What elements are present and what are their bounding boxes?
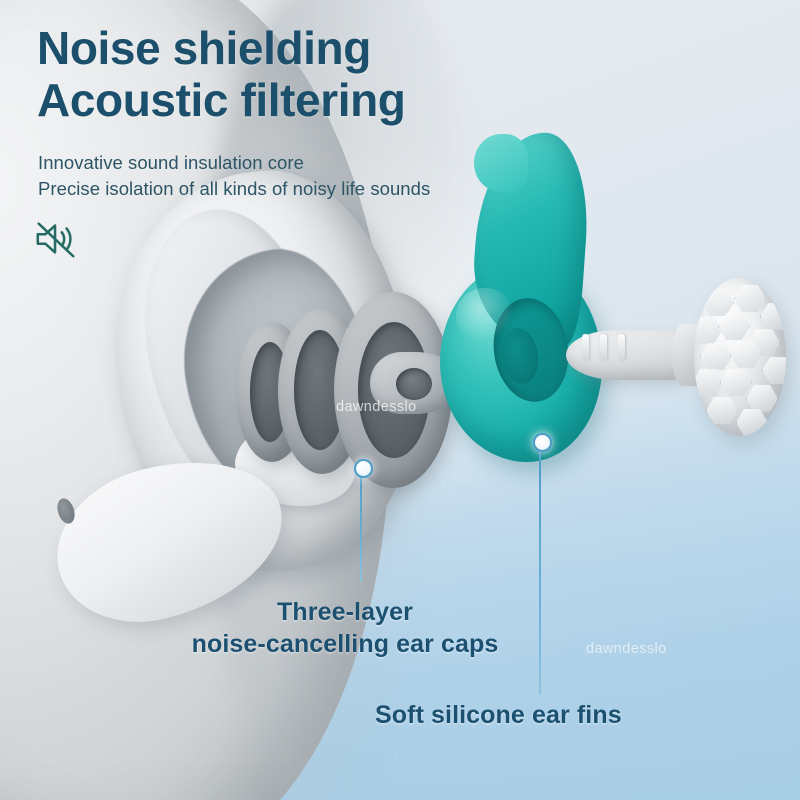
callout-label-ear-caps: Three-layer noise-cancelling ear caps (155, 596, 535, 660)
poster-headline: Noise shielding Acoustic filtering (37, 22, 406, 127)
callout-label-ear-fins: Soft silicone ear fins (375, 701, 622, 730)
noise-filter-rib (618, 334, 625, 360)
noise-filter-rib (600, 334, 607, 360)
honeycomb-facet (702, 288, 734, 317)
headline-line-1: Noise shielding (37, 22, 406, 74)
headline-line-2: Acoustic filtering (37, 74, 406, 126)
noise-filter-head (694, 278, 786, 436)
honeycomb-facet (762, 356, 786, 385)
honeycomb-facet (706, 396, 738, 425)
honeycomb-facet (700, 342, 732, 371)
callout-label-ear-caps-line-1: Three-layer (155, 596, 535, 628)
honeycomb-facet (746, 384, 778, 413)
poster-subheadline: Innovative sound insulation core Precise… (38, 150, 430, 203)
honeycomb-facet (720, 368, 752, 397)
honeycomb-facet (734, 284, 766, 313)
callout-dot-ear-fins (533, 433, 552, 452)
honeycomb-facet (694, 316, 722, 345)
product-infographic-poster: Noise shielding Acoustic filtering Innov… (0, 0, 800, 800)
callout-dot-ear-caps (354, 459, 373, 478)
ear-fin-hook-tip (474, 134, 528, 192)
honeycomb-facet (718, 312, 750, 341)
subheadline-line-1: Innovative sound insulation core (38, 150, 430, 176)
subheadline-line-2: Precise isolation of all kinds of noisy … (38, 176, 430, 202)
ear-fin-highlight (456, 288, 514, 342)
watermark: dawndesslo (586, 641, 667, 657)
callout-line-ear-fins (539, 445, 541, 695)
honeycomb-facet (760, 302, 786, 331)
callout-label-ear-caps-line-2: noise-cancelling ear caps (155, 628, 535, 660)
noise-filter-part (566, 278, 786, 453)
noise-filter-rib (582, 334, 589, 360)
ear-cap-core-bore (396, 368, 432, 400)
mute-speaker-icon (33, 216, 79, 262)
honeycomb-facet (694, 368, 724, 397)
honeycomb-facet (736, 408, 768, 436)
